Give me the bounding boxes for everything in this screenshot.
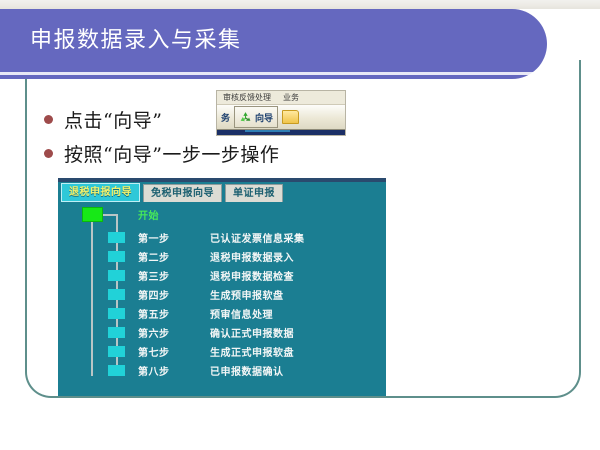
bullet-dot-icon (44, 149, 53, 158)
bullet-text-1: 点击“向导” (64, 106, 162, 133)
start-label: 开始 (138, 207, 159, 222)
step-node-icon (108, 251, 125, 262)
folder-icon (282, 110, 299, 124)
step-description: 已认证发票信息采集 (210, 230, 305, 245)
page-title: 申报数据录入与采集 (30, 22, 242, 54)
bullet-dot-icon (44, 115, 53, 124)
toolbar-button-wizard-label: 向导 (255, 111, 273, 124)
wizard-step-row[interactable]: 第六步 确认正式申报数据 (58, 323, 386, 342)
step-description: 生成正式申报软盘 (210, 344, 294, 359)
start-node-icon[interactable] (82, 207, 103, 222)
tab-exemption-declaration-wizard[interactable]: 免税申报向导 (143, 184, 222, 202)
wizard-step-row[interactable]: 第八步 已申报数据确认 (58, 361, 386, 380)
step-description: 确认正式申报数据 (210, 325, 294, 340)
tab-refund-declaration-wizard[interactable]: 退税申报向导 (61, 183, 140, 202)
step-number: 第五步 (138, 306, 170, 321)
step-number: 第六步 (138, 325, 170, 340)
toolbar-button-folder (280, 107, 301, 127)
wizard-step-row[interactable]: 第一步 已认证发票信息采集 (58, 228, 386, 247)
wizard-steps-area: 开始 第一步 已认证发票信息采集 第二步 退税申报数据录入 第三步 退税申报数据… (58, 202, 386, 386)
step-description: 已申报数据确认 (210, 363, 284, 378)
step-number: 第七步 (138, 344, 170, 359)
wizard-step-row[interactable]: 第七步 生成正式申报软盘 (58, 342, 386, 361)
step-description: 生成预申报软盘 (210, 287, 284, 302)
wizard-step-row[interactable]: 第五步 预审信息处理 (58, 304, 386, 323)
step-number: 第二步 (138, 249, 170, 264)
bullet-text-2: 按照“向导”一步一步操作 (64, 140, 279, 167)
step-node-icon (108, 232, 125, 243)
step-number: 第三步 (138, 268, 170, 283)
bullet-item-1: 点击“向导” (44, 106, 162, 133)
step-description: 预审信息处理 (210, 306, 273, 321)
step-number: 第八步 (138, 363, 170, 378)
toolbar-button-business-label: 务 (221, 111, 230, 124)
recycle-icon (239, 111, 252, 124)
wizard-step-row[interactable]: 第四步 生成预申报软盘 (58, 285, 386, 304)
bullet-item-2: 按照“向导”一步一步操作 (44, 140, 279, 167)
step-node-icon (108, 327, 125, 338)
step-node-icon (108, 346, 125, 357)
top-strip (0, 0, 600, 9)
step-description: 退税申报数据录入 (210, 249, 294, 264)
step-number: 第四步 (138, 287, 170, 302)
embedded-toolbar-screenshot: 审核反馈处理 业务 务 向导 (216, 90, 346, 136)
step-number: 第一步 (138, 230, 170, 245)
wizard-panel-screenshot: 退税申报向导 免税申报向导 单证申报 开始 第一步 已认证发票信息采集 (58, 178, 386, 396)
menu-item-audit-feedback: 审核反馈处理 (223, 92, 271, 103)
title-banner-underline (0, 72, 540, 75)
step-node-icon (108, 365, 125, 376)
tab-label: 免税申报向导 (151, 188, 214, 199)
toolbar-button-wizard: 向导 (234, 106, 278, 128)
step-node-icon (108, 270, 125, 281)
toolbar-navy-highlight (245, 130, 290, 132)
wizard-tabbar: 退税申报向导 免税申报向导 单证申报 (58, 182, 386, 202)
toolbar-button-business: 务 (219, 107, 232, 127)
toolbar-navy-strip (217, 129, 345, 136)
menu-item-business: 业务 (283, 92, 299, 103)
tab-label: 单证申报 (233, 188, 275, 199)
tab-document-declaration-wizard[interactable]: 单证申报 (225, 184, 283, 202)
toolbar-buttonbar: 务 向导 (217, 105, 345, 129)
slide-canvas: 申报数据录入与采集 点击“向导” 按照“向导”一步一步操作 审核反馈处理 业务 … (0, 0, 600, 450)
step-description: 退税申报数据检查 (210, 268, 294, 283)
step-node-icon (108, 289, 125, 300)
wizard-step-row[interactable]: 第二步 退税申报数据录入 (58, 247, 386, 266)
toolbar-menubar: 审核反馈处理 业务 (217, 91, 345, 105)
wizard-step-row[interactable]: 第三步 退税申报数据检查 (58, 266, 386, 285)
step-node-icon (108, 308, 125, 319)
tab-label: 退税申报向导 (69, 187, 132, 198)
